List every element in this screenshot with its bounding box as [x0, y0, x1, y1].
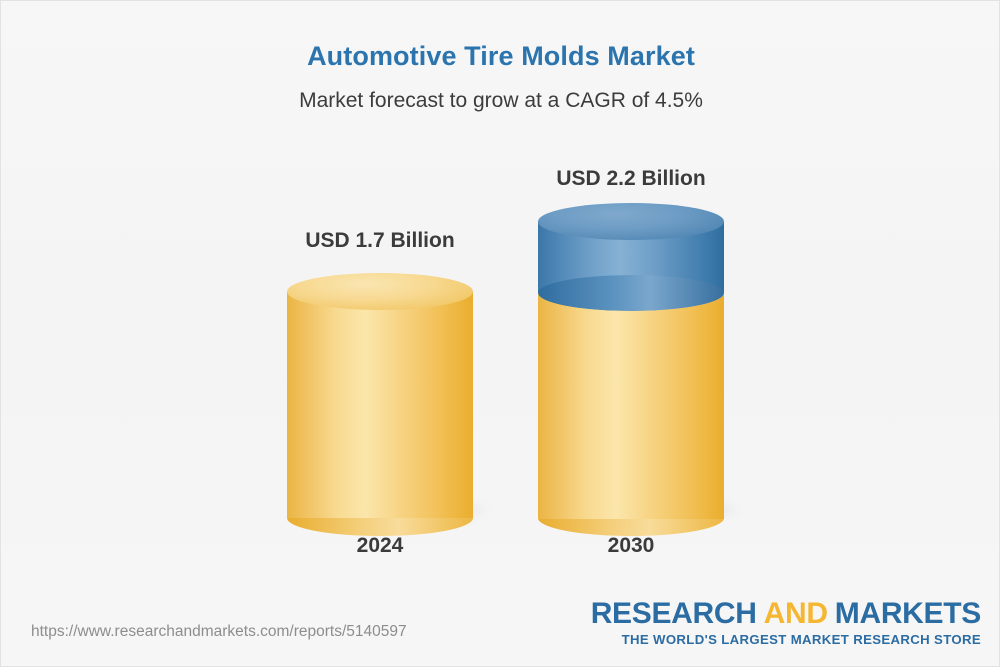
brand-logo-tagline: THE WORLD'S LARGEST MARKET RESEARCH STOR… [591, 633, 981, 646]
chart-plot-area: USD 1.7 Billion USD 2.2 Billion [1, 1, 1000, 667]
brand-logo-word-and: AND [757, 597, 835, 630]
bar-value-label-2024: USD 1.7 Billion [265, 229, 495, 253]
brand-logo-word-markets: MARKETS [835, 597, 981, 630]
chart-card: Automotive Tire Molds Market Market fore… [0, 0, 1000, 667]
bar-value-label-2030: USD 2.2 Billion [516, 167, 746, 191]
bar-segment-base-2030 [538, 293, 724, 519]
bar-top-cap-2030 [538, 203, 724, 240]
bar-top-cap-2024 [287, 273, 473, 310]
brand-logo[interactable]: RESEARCHANDMARKETS THE WORLD'S LARGEST M… [591, 599, 981, 646]
bar-2030: USD 2.2 Billion [538, 131, 724, 531]
bar-segment-growth-bottom-cap-2030 [538, 275, 724, 311]
brand-logo-word-research: RESEARCH [591, 597, 757, 630]
bar-2024: USD 1.7 Billion [287, 201, 473, 531]
brand-logo-wordmark: RESEARCHANDMARKETS [591, 599, 981, 629]
bar-body-2024 [287, 291, 473, 518]
report-url[interactable]: https://www.researchandmarkets.com/repor… [31, 623, 407, 641]
category-label-2024: 2024 [287, 534, 473, 558]
category-label-2030: 2030 [538, 534, 724, 558]
